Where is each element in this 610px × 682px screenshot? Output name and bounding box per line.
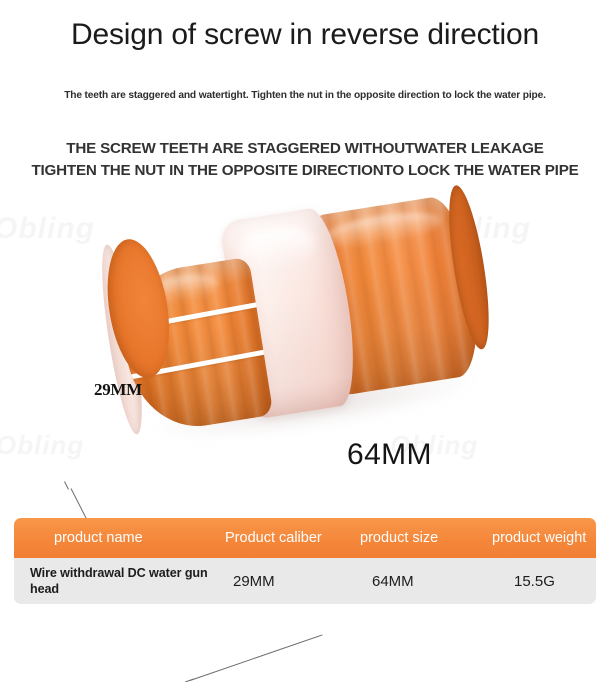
dimension-label-29mm: 29MM	[94, 380, 142, 400]
infographic-page: Design of screw in reverse direction The…	[0, 0, 610, 610]
table-row: Wire withdrawal DC water gun head 29MM 6…	[14, 558, 596, 604]
column-header-product-size: product size	[344, 530, 472, 546]
dimension-line-64mm	[190, 634, 323, 681]
dimension-tick	[185, 679, 194, 682]
caption-line-2: TIGHTEN THE NUT IN THE OPPOSITE DIRECTIO…	[0, 160, 610, 182]
spec-table: product name Product caliber product siz…	[14, 518, 596, 604]
dimension-tick	[64, 481, 69, 489]
product-connector-illustration	[101, 176, 505, 476]
dimension-label-64mm: 64MM	[347, 438, 432, 472]
cell-product-name: Wire withdrawal DC water gun head	[14, 565, 209, 597]
column-header-product-weight: product weight	[472, 530, 596, 546]
subtitle-text: The teeth are staggered and watertight. …	[0, 90, 610, 101]
cell-product-size: 64MM	[344, 573, 472, 590]
spec-table-header-row: product name Product caliber product siz…	[14, 518, 596, 558]
caption-line-1: THE SCREW TEETH ARE STAGGERED WITHOUTWAT…	[0, 138, 610, 160]
cell-product-caliber: 29MM	[209, 573, 344, 590]
cell-product-weight: 15.5G	[472, 573, 596, 590]
page-title: Design of screw in reverse direction	[0, 18, 610, 52]
column-header-product-name: product name	[14, 530, 209, 546]
caption-block: THE SCREW TEETH ARE STAGGERED WITHOUTWAT…	[0, 138, 610, 182]
product-image-stage	[0, 185, 610, 505]
column-header-product-caliber: Product caliber	[209, 530, 344, 546]
